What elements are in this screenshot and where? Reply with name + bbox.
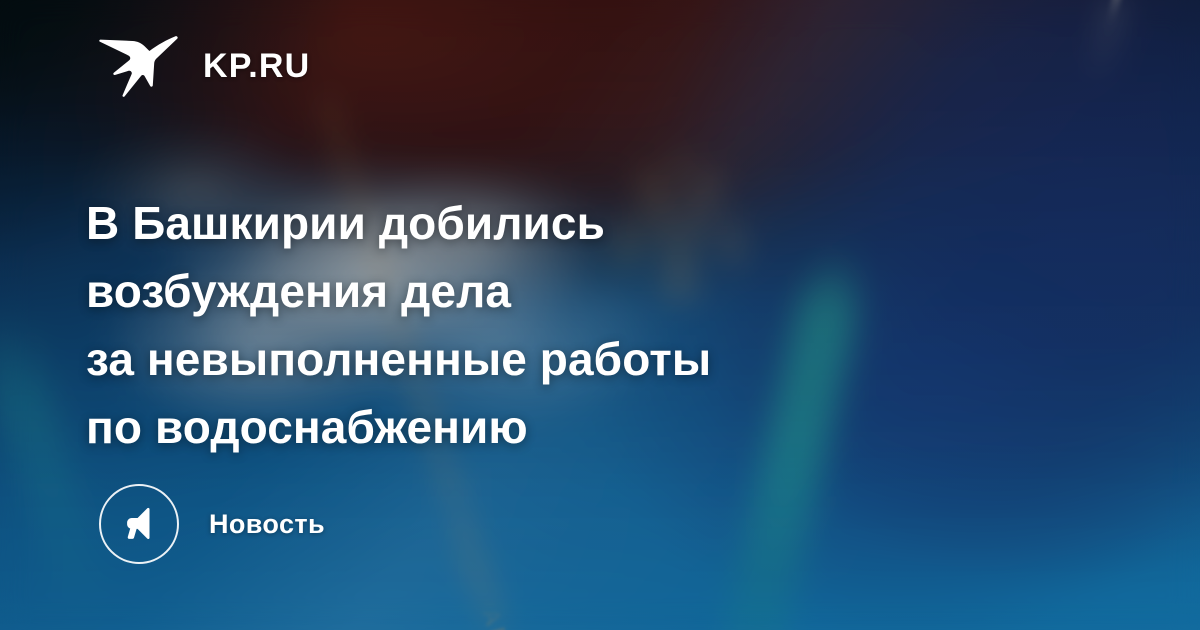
status-badge[interactable]: Новость bbox=[99, 484, 325, 564]
page-title: В Башкирии добились возбуждения дела за … bbox=[86, 189, 946, 461]
headline-line-2: возбуждения дела bbox=[86, 257, 946, 325]
swallow-bird-icon bbox=[97, 35, 179, 97]
news-share-card: ПРОКУРАТУРА РОССИЙСКОЙ ФЕДЕРАЦИИ bbox=[0, 0, 1200, 630]
headline-line-3: за невыполненные работы bbox=[86, 325, 946, 393]
headline-line-1: В Башкирии добились bbox=[86, 189, 946, 257]
card-content: KP.RU В Башкирии добились возбуждения де… bbox=[0, 0, 1200, 630]
megaphone-icon bbox=[99, 484, 179, 564]
brand-logo[interactable]: KP.RU bbox=[97, 35, 310, 97]
headline-line-4: по водоснабжению bbox=[86, 393, 946, 461]
brand-name: KP.RU bbox=[203, 49, 310, 83]
status-badge-label: Новость bbox=[209, 511, 325, 538]
